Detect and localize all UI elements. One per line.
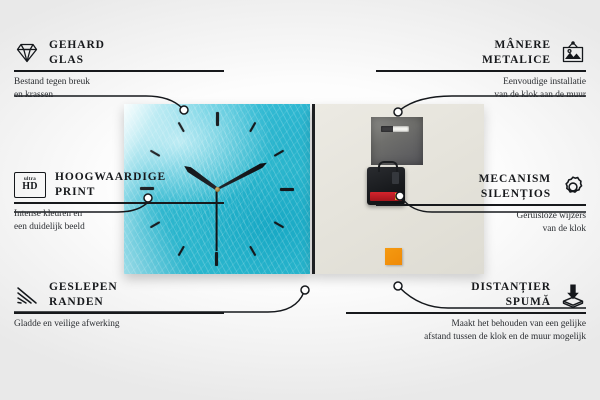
feature-gehard-glas: GEHARD GLAS Bestand tegen breuk en krass… bbox=[14, 38, 224, 101]
feature-header: ultra HD HOOGWAARDIGE PRINT bbox=[14, 170, 224, 199]
movement-hanging-loop bbox=[378, 161, 398, 172]
feature-description: Eenvoudige installatie van de klok aan d… bbox=[376, 76, 586, 102]
metal-hanger bbox=[371, 117, 423, 165]
feature-description: Maakt het behouden van een gelijke afsta… bbox=[346, 318, 586, 344]
feature-hoogwaardige-print: ultra HD HOOGWAARDIGE PRINT Intense kleu… bbox=[14, 170, 224, 233]
feature-title: HOOGWAARDIGE PRINT bbox=[55, 170, 166, 199]
feature-divider bbox=[376, 204, 586, 205]
feature-header: MECANISM SILENȚIOS bbox=[376, 172, 586, 201]
bevelled-edge-icon bbox=[14, 282, 40, 308]
feature-distantier-spuma: DISTANȚIER SPUMĂ Maakt het behouden van … bbox=[346, 280, 586, 343]
feature-divider bbox=[14, 202, 224, 203]
feature-divider bbox=[14, 70, 224, 71]
feature-divider bbox=[376, 70, 586, 71]
feature-header: GESLEPEN RANDEN bbox=[14, 280, 224, 309]
infographic-canvas: GEHARD GLAS Bestand tegen breuk en krass… bbox=[0, 0, 600, 400]
feature-title: GESLEPEN RANDEN bbox=[49, 280, 118, 309]
feature-title: DISTANȚIER SPUMĂ bbox=[471, 280, 551, 309]
diamond-icon bbox=[14, 40, 40, 66]
ultra-hd-icon: ultra HD bbox=[14, 172, 46, 198]
feature-title: MECANISM SILENȚIOS bbox=[479, 172, 551, 201]
feature-title: MÂNERE METALICE bbox=[482, 38, 551, 67]
feature-header: GEHARD GLAS bbox=[14, 38, 224, 67]
feature-description: Bestand tegen breuk en krassen bbox=[14, 76, 224, 102]
ultra-hd-icon-hd-text: HD bbox=[22, 182, 38, 192]
leader-dot-3 bbox=[301, 286, 309, 294]
feature-divider bbox=[346, 312, 586, 313]
gear-icon bbox=[560, 174, 586, 200]
foam-spacer bbox=[385, 248, 402, 265]
feature-manere-metalice: MÂNERE METALICE Eenvoudige installatie v… bbox=[376, 38, 586, 101]
picture-hanging-icon bbox=[560, 40, 586, 66]
feature-description: Gladde en veilige afwerking bbox=[14, 318, 224, 331]
feature-header: DISTANȚIER SPUMĂ bbox=[346, 280, 586, 309]
hanger-slot bbox=[381, 126, 409, 132]
feature-header: MÂNERE METALICE bbox=[376, 38, 586, 67]
feature-description: Intense kleuren en een duidelijk beeld bbox=[14, 208, 224, 234]
spacer-down-arrow-icon bbox=[560, 282, 586, 308]
feature-description: Geruisloze wijzers van de klok bbox=[376, 210, 586, 236]
feature-title: GEHARD GLAS bbox=[49, 38, 105, 67]
feature-divider bbox=[14, 312, 224, 313]
feature-geslepen-randen: GESLEPEN RANDEN Gladde en veilige afwerk… bbox=[14, 280, 224, 331]
feature-mecanism-silentios: MECANISM SILENȚIOS Geruisloze wijzers va… bbox=[376, 172, 586, 235]
